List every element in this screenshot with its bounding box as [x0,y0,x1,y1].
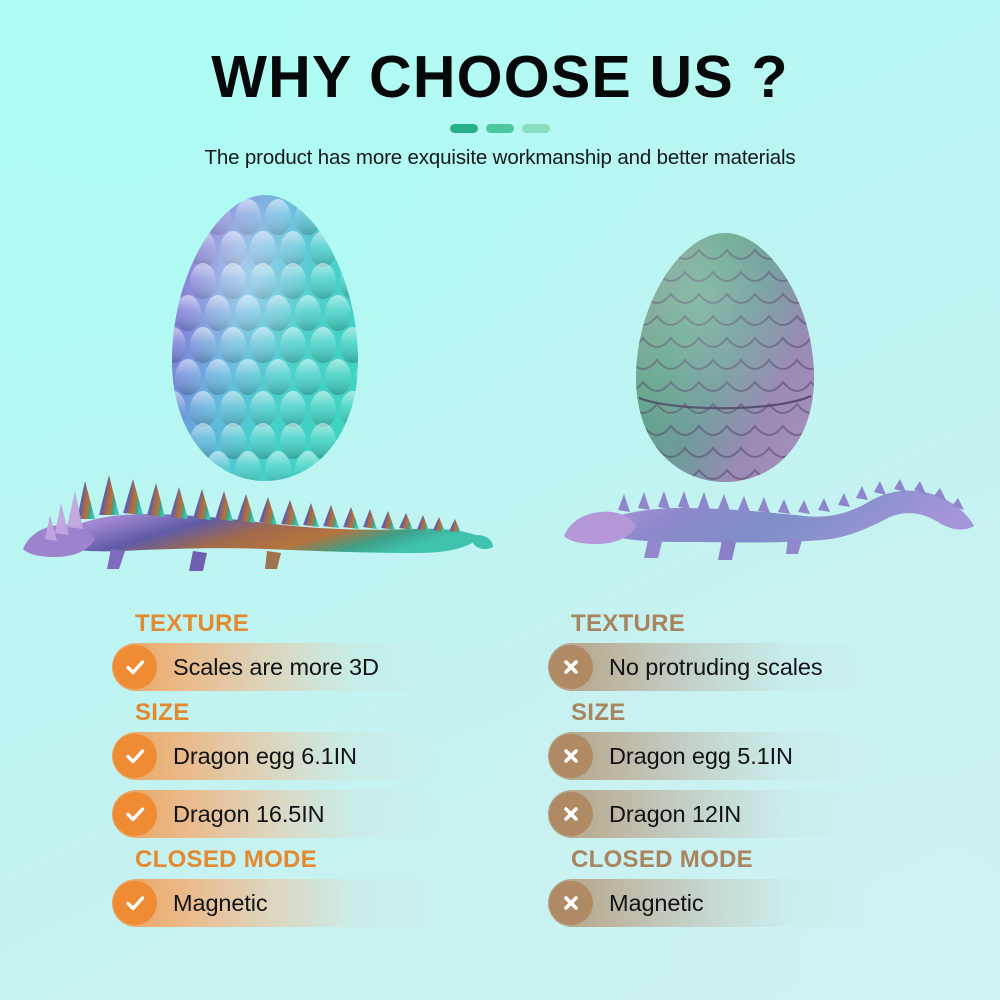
feature-row: Dragon 12IN [548,790,988,838]
check-icon [113,734,157,778]
dragon-egg-image-right [625,230,825,485]
header: WHY CHOOSE US ? The product has more exq… [0,0,1000,170]
feature-label: Magnetic [173,890,268,917]
cross-icon [549,645,593,689]
product-photo-right [500,185,1000,605]
dash-divider [0,124,1000,133]
product-photo-left [0,185,500,605]
feature-row: Magnetic [548,879,988,927]
cross-icon [549,734,593,778]
feature-row: Scales are more 3D [112,643,552,691]
feature-row: Magnetic [112,879,552,927]
comparison-columns: TEXTURE Scales are more 3D SIZE [0,612,1000,1000]
dash-segment-3 [522,124,550,133]
group-label-texture: TEXTURE [112,612,552,636]
product-photos [0,185,1000,605]
feature-row: No protruding scales [548,643,988,691]
feature-label: Scales are more 3D [173,654,379,681]
group-label-size: SIZE [112,701,552,725]
row-highlight-bar [548,879,878,927]
dragon-figure-image-right [560,450,980,570]
group-label-closed-mode: CLOSED MODE [548,848,988,872]
feature-label: Dragon egg 5.1IN [609,743,793,770]
feature-label: Dragon egg 6.1IN [173,743,357,770]
page-subtitle: The product has more exquisite workmansh… [0,133,1000,170]
feature-label: No protruding scales [609,654,823,681]
feature-row: Dragon egg 5.1IN [548,732,988,780]
dash-segment-2 [486,124,514,133]
check-icon [113,881,157,925]
comparison-column-ours: TEXTURE Scales are more 3D SIZE [112,612,552,937]
comparison-infographic: WHY CHOOSE US ? The product has more exq… [0,0,1000,1000]
group-label-size: SIZE [548,701,988,725]
check-icon [113,792,157,836]
page-title: WHY CHOOSE US ? [0,0,1000,110]
feature-label: Magnetic [609,890,704,917]
comparison-column-others: TEXTURE No protruding scales SIZE [548,612,988,937]
group-label-texture: TEXTURE [548,612,988,636]
group-label-closed-mode: CLOSED MODE [112,848,552,872]
feature-row: Dragon 16.5IN [112,790,552,838]
feature-label: Dragon 12IN [609,801,741,828]
cross-icon [549,881,593,925]
cross-icon [549,792,593,836]
feature-label: Dragon 16.5IN [173,801,325,828]
dragon-figure-image-left [15,457,495,577]
check-icon [113,645,157,689]
row-highlight-bar [112,879,442,927]
feature-row: Dragon egg 6.1IN [112,732,552,780]
dragon-egg-image-left [160,193,370,483]
dash-segment-1 [450,124,478,133]
